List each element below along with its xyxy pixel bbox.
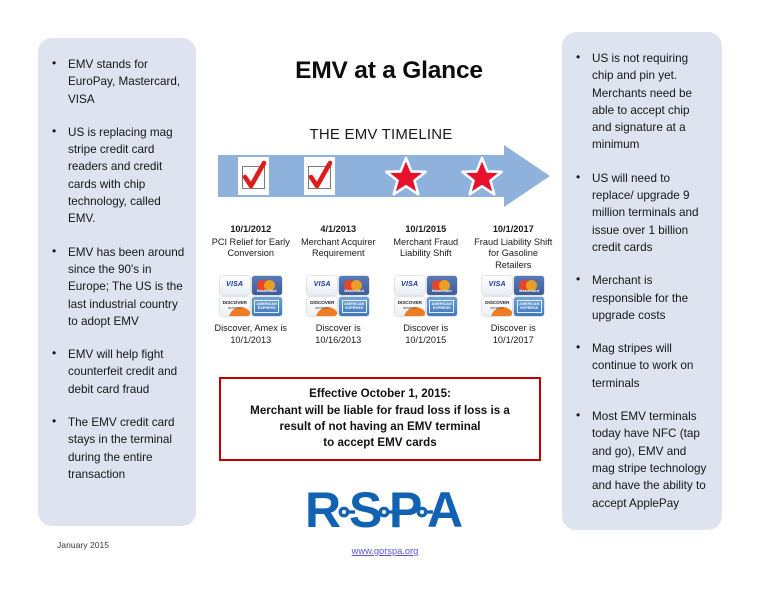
list-item: EMV has been around since the 90's in Eu…: [46, 244, 186, 330]
amex-wordmark: AMERICANEXPRESS: [339, 302, 369, 311]
footer-date: January 2015: [57, 540, 109, 550]
milestone-date: 10/1/2017: [470, 224, 558, 236]
discover-subtext: NETWORK: [220, 307, 250, 310]
card-logo-grid: VISA MasterCard DISCOVER NETWORK AMERICA…: [307, 276, 369, 316]
visa-wordmark: VISA: [395, 281, 425, 288]
discover-logo-icon: DISCOVER NETWORK: [307, 297, 337, 316]
list-item: EMV will help fight counterfeit credit a…: [46, 346, 186, 398]
checkmark-icon: [304, 157, 335, 195]
discover-logo-icon: DISCOVER NETWORK: [395, 297, 425, 316]
milestone-date: 10/1/2015: [382, 224, 470, 236]
slide-canvas: EMV stands for EuroPay, Mastercard, VISA…: [0, 0, 768, 594]
svg-text:S: S: [349, 482, 382, 534]
discover-subtext: NETWORK: [395, 307, 425, 310]
discover-logo-icon: DISCOVER NETWORK: [482, 297, 512, 316]
right-info-panel: US is not requiring chip and pin yet. Me…: [562, 32, 722, 530]
amex-wordmark: AMERICANEXPRESS: [252, 302, 282, 311]
amex-logo-icon: AMERICANEXPRESS: [339, 297, 369, 316]
discover-logo-icon: DISCOVER NETWORK: [220, 297, 250, 316]
visa-wordmark: VISA: [220, 281, 250, 288]
rspa-website-link[interactable]: www.gorspa.org: [300, 546, 470, 556]
milestone-date-row: 10/1/2012 PCI Relief for Early Conversio…: [207, 224, 557, 271]
card-brand-note: Discover is 10/16/2013: [295, 323, 383, 346]
list-item: EMV stands for EuroPay, Mastercard, VISA: [46, 56, 186, 108]
card-logo-grid: VISA MasterCard DISCOVER NETWORK AMERICA…: [482, 276, 544, 316]
amex-logo-icon: AMERICANEXPRESS: [514, 297, 544, 316]
milestone-date: 4/1/2013: [295, 224, 383, 236]
rspa-logo: R S P A: [305, 482, 465, 534]
discover-wordmark: DISCOVER: [220, 301, 250, 306]
timeline-arrow-graphic: [218, 145, 550, 207]
discover-wordmark: DISCOVER: [307, 301, 337, 306]
amex-wordmark: AMERICANEXPRESS: [427, 302, 457, 311]
milestone-4: 10/1/2017 Fraud Liability Shift for Gaso…: [470, 224, 558, 271]
card-logo-grid: VISA MasterCard DISCOVER NETWORK AMERICA…: [395, 276, 457, 316]
visa-logo-icon: VISA: [482, 276, 512, 295]
right-bullet-list: US is not requiring chip and pin yet. Me…: [562, 32, 722, 512]
milestone-label: PCI Relief for Early Conversion: [212, 237, 290, 259]
svg-text:A: A: [427, 482, 463, 534]
callout-line-4: to accept EMV cards: [250, 435, 510, 451]
card-brand-row: VISA MasterCard DISCOVER NETWORK AMERICA…: [207, 276, 557, 346]
page-title: EMV at a Glance: [224, 57, 554, 85]
card-brand-group-3: VISA MasterCard DISCOVER NETWORK AMERICA…: [382, 276, 470, 346]
amex-logo-icon: AMERICANEXPRESS: [427, 297, 457, 316]
callout-line-2: Merchant will be liable for fraud loss i…: [250, 403, 510, 419]
amex-logo-icon: AMERICANEXPRESS: [252, 297, 282, 316]
rspa-logo-icon: R S P A: [305, 482, 465, 534]
visa-wordmark: VISA: [482, 281, 512, 288]
milestone-3: 10/1/2015 Merchant Fraud Liability Shift: [382, 224, 470, 271]
list-item: Merchant is responsible for the upgrade …: [570, 272, 712, 324]
card-logo-grid: VISA MasterCard DISCOVER NETWORK AMERICA…: [220, 276, 282, 316]
card-brand-note: Discover is 10/1/2015: [382, 323, 470, 346]
discover-wordmark: DISCOVER: [482, 301, 512, 306]
milestone-1: 10/1/2012 PCI Relief for Early Conversio…: [207, 224, 295, 271]
mastercard-wordmark: MasterCard: [339, 289, 369, 293]
timeline-heading: THE EMV TIMELINE: [216, 126, 546, 143]
timeline-marker-star-2: [461, 155, 503, 197]
mastercard-wordmark: MasterCard: [514, 289, 544, 293]
list-item: The EMV credit card stays in the termina…: [46, 414, 186, 483]
milestone-date: 10/1/2012: [207, 224, 295, 236]
svg-text:P: P: [389, 482, 422, 534]
mastercard-logo-icon: MasterCard: [514, 276, 544, 295]
checkmark-icon: [238, 157, 269, 195]
discover-subtext: NETWORK: [307, 307, 337, 310]
discover-subtext: NETWORK: [482, 307, 512, 310]
milestone-label: Fraud Liability Shift for Gasoline Retai…: [474, 237, 552, 270]
card-brand-note: Discover is 10/1/2017: [470, 323, 558, 346]
list-item: Mag stripes will continue to work on ter…: [570, 340, 712, 392]
list-item: US will need to replace/ upgrade 9 milli…: [570, 170, 712, 256]
callout-line-1: Effective October 1, 2015:: [250, 386, 510, 402]
left-info-panel: EMV stands for EuroPay, Mastercard, VISA…: [38, 38, 196, 526]
visa-logo-icon: VISA: [220, 276, 250, 295]
list-item: US is not requiring chip and pin yet. Me…: [570, 50, 712, 154]
mastercard-logo-icon: MasterCard: [339, 276, 369, 295]
milestone-2: 4/1/2013 Merchant Acquirer Requirement: [295, 224, 383, 271]
mastercard-wordmark: MasterCard: [252, 289, 282, 293]
card-brand-group-2: VISA MasterCard DISCOVER NETWORK AMERICA…: [295, 276, 383, 346]
card-brand-note: Discover, Amex is 10/1/2013: [207, 323, 295, 346]
left-bullet-list: EMV stands for EuroPay, Mastercard, VISA…: [38, 38, 196, 483]
timeline-marker-star-1: [385, 155, 427, 197]
milestone-label: Merchant Fraud Liability Shift: [393, 237, 458, 259]
visa-wordmark: VISA: [307, 281, 337, 288]
visa-logo-icon: VISA: [307, 276, 337, 295]
callout-text: Effective October 1, 2015: Merchant will…: [242, 386, 518, 452]
mastercard-logo-icon: MasterCard: [252, 276, 282, 295]
card-brand-group-4: VISA MasterCard DISCOVER NETWORK AMERICA…: [470, 276, 558, 346]
discover-wordmark: DISCOVER: [395, 301, 425, 306]
mastercard-logo-icon: MasterCard: [427, 276, 457, 295]
timeline-marker-check-2: [304, 157, 335, 195]
svg-text:R: R: [305, 482, 341, 534]
liability-callout-box: Effective October 1, 2015: Merchant will…: [219, 377, 541, 461]
list-item: Most EMV terminals today have NFC (tap a…: [570, 408, 712, 512]
mastercard-wordmark: MasterCard: [427, 289, 457, 293]
amex-wordmark: AMERICANEXPRESS: [514, 302, 544, 311]
visa-logo-icon: VISA: [395, 276, 425, 295]
timeline-marker-check-1: [238, 157, 269, 195]
milestone-label: Merchant Acquirer Requirement: [301, 237, 376, 259]
star-icon: [385, 155, 427, 197]
star-icon: [461, 155, 503, 197]
callout-line-3: result of not having an EMV terminal: [250, 419, 510, 435]
list-item: US is replacing mag stripe credit card r…: [46, 124, 186, 228]
card-brand-group-1: VISA MasterCard DISCOVER NETWORK AMERICA…: [207, 276, 295, 346]
